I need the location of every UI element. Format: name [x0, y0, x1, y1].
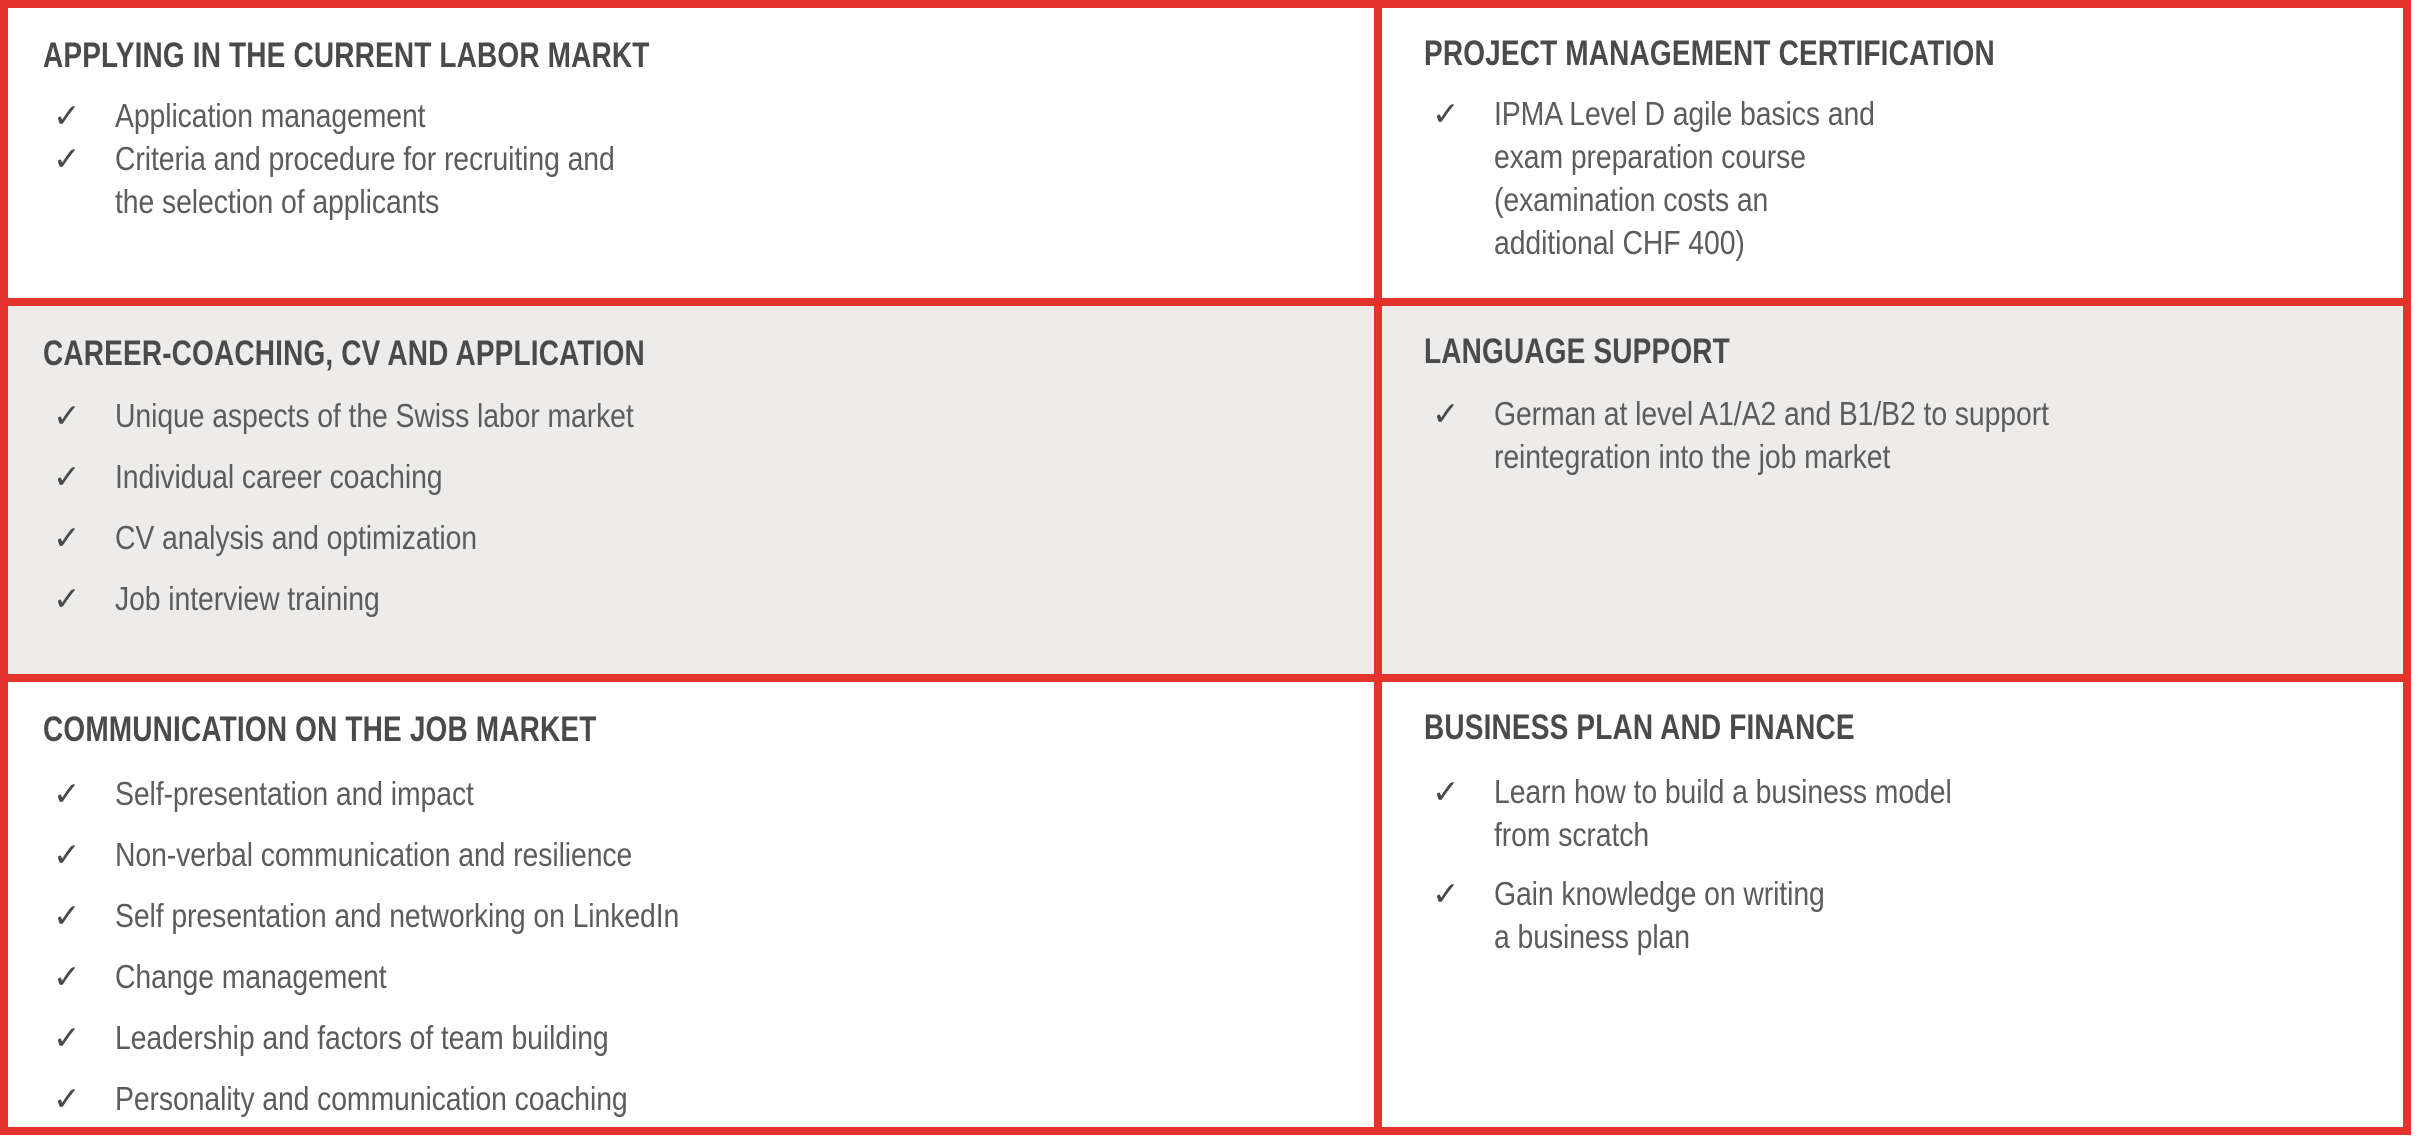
checkmark-icon: ✓	[53, 516, 115, 559]
list-item: ✓ Change management	[53, 955, 1343, 998]
list-item-label: IPMA Level D agile basics and exam prepa…	[1494, 92, 2249, 264]
card-title: LANGUAGE SUPPORT	[1424, 334, 1730, 369]
checkmark-icon: ✓	[53, 1016, 115, 1059]
card-business-plan-and-finance: BUSINESS PLAN AND FINANCE ✓ Learn how to…	[1382, 682, 2403, 1127]
checkmark-icon: ✓	[53, 772, 115, 815]
card-title: PROJECT MANAGEMENT CERTIFICATION	[1424, 36, 1995, 71]
card-bullet-list: ✓ IPMA Level D agile basics and exam pre…	[1432, 92, 2372, 270]
list-item: ✓ Personality and communication coaching	[53, 1077, 1343, 1120]
list-item-label: German at level A1/A2 and B1/B2 to suppo…	[1494, 392, 2249, 478]
card-bullet-list: ✓ Unique aspects of the Swiss labor mark…	[53, 394, 1343, 638]
checkmark-icon: ✓	[1432, 872, 1494, 915]
list-item: ✓ Leadership and factors of team buildin…	[53, 1016, 1343, 1059]
list-item: ✓ Individual career coaching	[53, 455, 1343, 498]
list-item-label: Non-verbal communication and resilience	[115, 833, 1171, 876]
card-bullet-list: ✓ German at level A1/A2 and B1/B2 to sup…	[1432, 392, 2372, 484]
card-title: COMMUNICATION ON THE JOB MARKET	[43, 712, 597, 747]
card-bullet-list: ✓ Application management ✓ Criteria and …	[53, 94, 1343, 223]
list-item: ✓ Self presentation and networking on Li…	[53, 894, 1343, 937]
list-item-label: Learn how to build a business model from…	[1494, 770, 2249, 856]
card-title: CAREER-COACHING, CV AND APPLICATION	[43, 336, 645, 371]
checkmark-icon: ✓	[53, 394, 115, 437]
list-item-label: Leadership and factors of team building	[115, 1016, 1171, 1059]
card-career-coaching-cv-and-application: CAREER-COACHING, CV AND APPLICATION ✓ Un…	[8, 306, 1382, 682]
card-project-management-certification: PROJECT MANAGEMENT CERTIFICATION ✓ IPMA …	[1382, 8, 2403, 306]
checkmark-icon: ✓	[1432, 770, 1494, 813]
card-bullet-list: ✓ Self-presentation and impact ✓ Non-ver…	[53, 772, 1343, 1127]
list-item: ✓ Job interview training	[53, 577, 1343, 620]
list-item-label: Self presentation and networking on Link…	[115, 894, 1171, 937]
list-item: ✓ Unique aspects of the Swiss labor mark…	[53, 394, 1343, 437]
list-item-label: CV analysis and optimization	[115, 516, 1171, 559]
list-item-label: Change management	[115, 955, 1171, 998]
list-item: ✓ Gain knowledge on writing a business p…	[1432, 872, 2372, 958]
checkmark-icon: ✓	[1432, 392, 1494, 435]
list-item: ✓ IPMA Level D agile basics and exam pre…	[1432, 92, 2372, 264]
checkmark-icon: ✓	[53, 577, 115, 620]
card-communication-on-the-job-market: COMMUNICATION ON THE JOB MARKET ✓ Self-p…	[8, 682, 1382, 1127]
checkmark-icon: ✓	[53, 955, 115, 998]
list-item: ✓ German at level A1/A2 and B1/B2 to sup…	[1432, 392, 2372, 478]
checkmark-icon: ✓	[53, 94, 115, 137]
card-bullet-list: ✓ Learn how to build a business model fr…	[1432, 770, 2372, 974]
card-title: BUSINESS PLAN AND FINANCE	[1424, 710, 1855, 745]
card-applying-in-the-current-labor-markt: APPLYING IN THE CURRENT LABOR MARKT ✓ Ap…	[8, 8, 1382, 306]
list-item: ✓ Self-presentation and impact	[53, 772, 1343, 815]
list-item-label: Job interview training	[115, 577, 1171, 620]
card-language-support: LANGUAGE SUPPORT ✓ German at level A1/A2…	[1382, 306, 2403, 682]
checkmark-icon: ✓	[1432, 92, 1494, 135]
program-modules-grid: APPLYING IN THE CURRENT LABOR MARKT ✓ Ap…	[0, 0, 2411, 1135]
list-item-label: Application management	[115, 94, 1171, 137]
list-item-label: Self-presentation and impact	[115, 772, 1171, 815]
list-item: ✓ Learn how to build a business model fr…	[1432, 770, 2372, 856]
list-item: ✓ Application management	[53, 94, 1343, 137]
list-item: ✓ CV analysis and optimization	[53, 516, 1343, 559]
checkmark-icon: ✓	[53, 1077, 115, 1120]
card-title: APPLYING IN THE CURRENT LABOR MARKT	[43, 38, 650, 73]
list-item-label: Unique aspects of the Swiss labor market	[115, 394, 1171, 437]
list-item-label: Criteria and procedure for recruiting an…	[115, 137, 1171, 223]
list-item: ✓ Criteria and procedure for recruiting …	[53, 137, 1343, 223]
list-item-label: Individual career coaching	[115, 455, 1171, 498]
list-item-label: Personality and communication coaching	[115, 1077, 1171, 1120]
checkmark-icon: ✓	[53, 833, 115, 876]
checkmark-icon: ✓	[53, 137, 115, 180]
checkmark-icon: ✓	[53, 455, 115, 498]
list-item-label: Gain knowledge on writing a business pla…	[1494, 872, 2249, 958]
list-item: ✓ Non-verbal communication and resilienc…	[53, 833, 1343, 876]
checkmark-icon: ✓	[53, 894, 115, 937]
